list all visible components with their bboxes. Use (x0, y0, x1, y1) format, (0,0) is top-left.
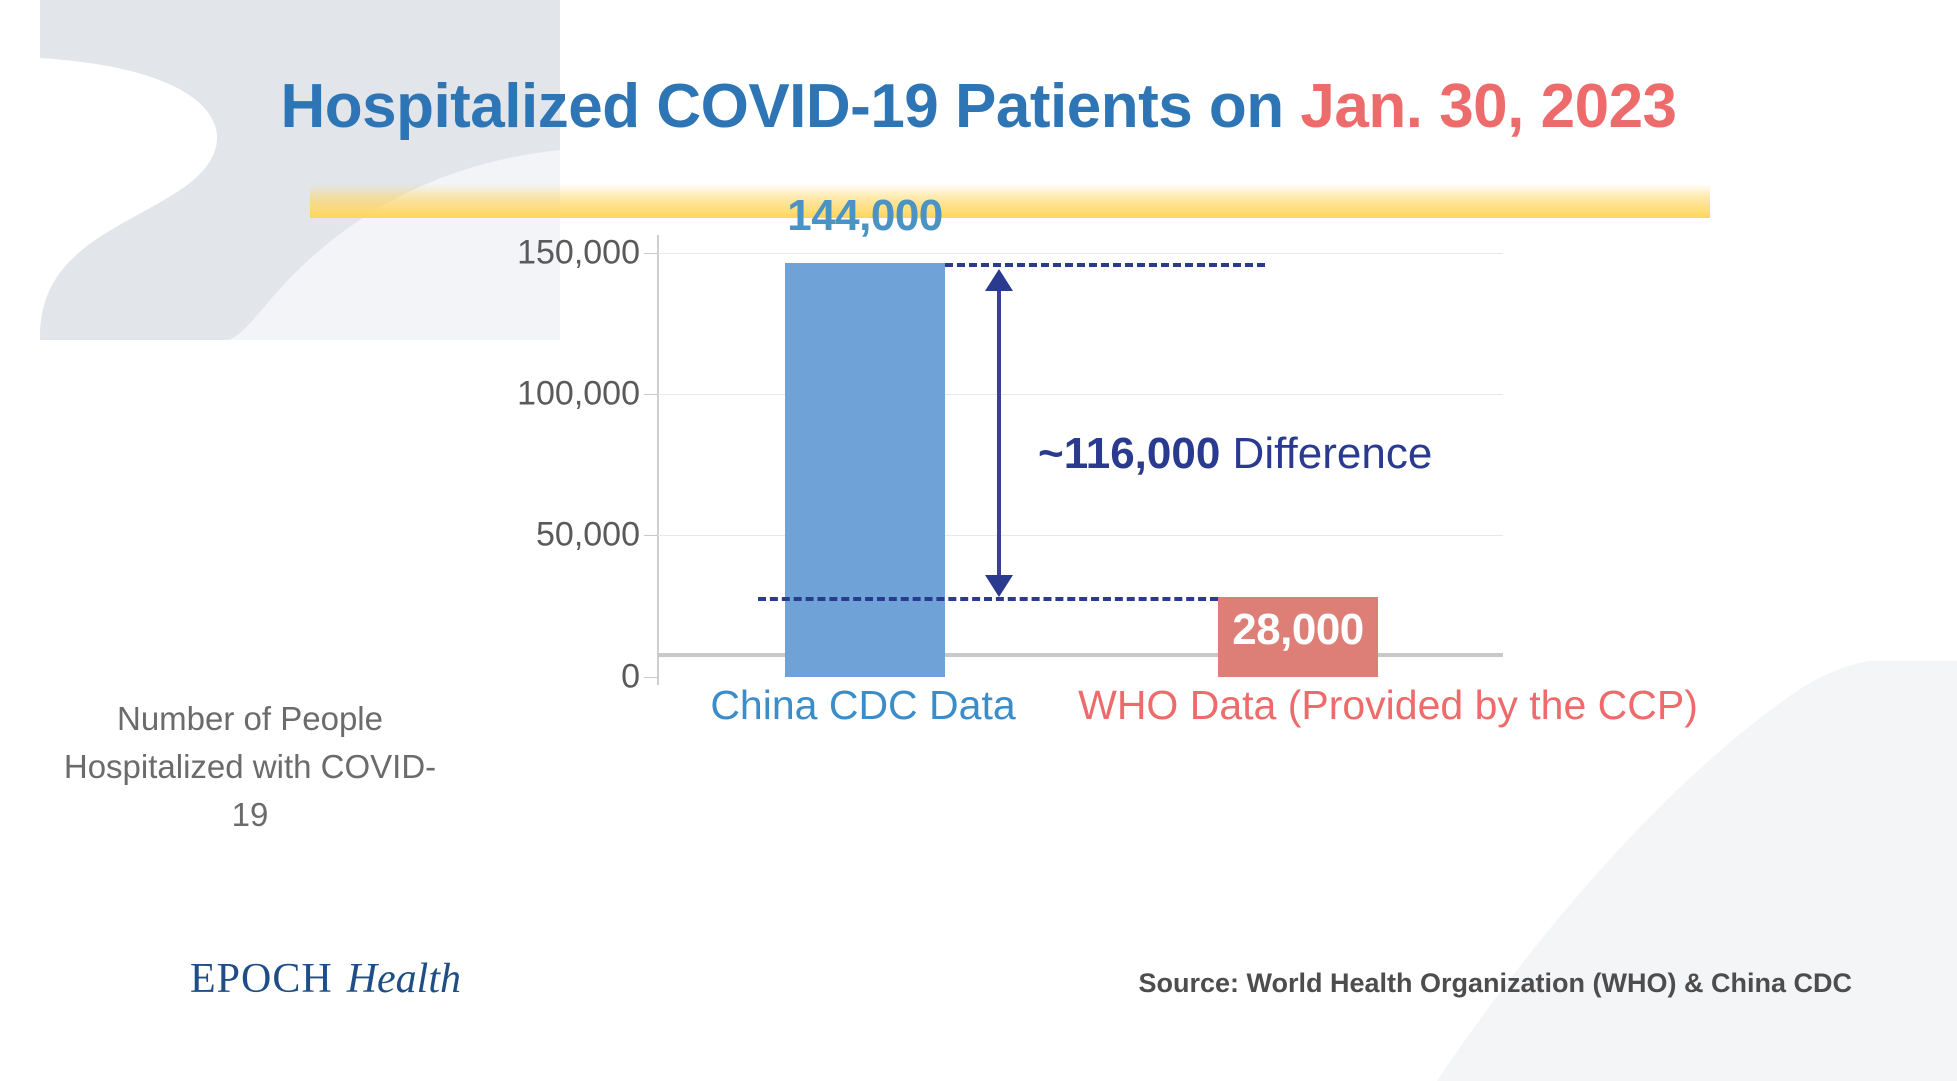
dashed-guide-top (945, 263, 1265, 267)
y-axis-title: Number of People Hospitalized with COVID… (55, 695, 445, 839)
x-axis-category-labels: China CDC Data WHO Data (Provided by the… (658, 682, 1503, 752)
bar-value-label-who: 28,000 (1218, 605, 1378, 655)
dashed-guide-bottom (758, 597, 1218, 601)
difference-arrowhead-down (985, 575, 1013, 597)
difference-value: ~116,000 (1038, 429, 1220, 478)
page-title: Hospitalized COVID-19 Patients on Jan. 3… (0, 52, 1957, 162)
bar-value-label-china-cdc: 144,000 (705, 191, 1025, 241)
x-category-label-who: WHO Data (Provided by the CCP) (1038, 682, 1738, 729)
difference-word: Difference (1220, 429, 1432, 478)
y-tick-label-0: 0 (400, 658, 640, 697)
infographic-canvas: Hospitalized COVID-19 Patients on Jan. 3… (0, 0, 1957, 1081)
difference-arrowhead-up (985, 269, 1013, 291)
title-block: Hospitalized COVID-19 Patients on Jan. 3… (0, 52, 1957, 162)
y-tick-label-150000: 150,000 (400, 234, 640, 273)
bar-china-cdc[interactable] (785, 263, 945, 677)
plot-area: 144,000 28,000 ~116,000 Difference (658, 253, 1503, 684)
difference-annotation: ~116,000 Difference (1038, 429, 1598, 479)
title-date-text: Jan. 30, 2023 (1300, 72, 1676, 141)
tick-150000 (644, 253, 658, 254)
tick-100000 (644, 394, 658, 395)
logo-secondary-text: Health (347, 956, 461, 1002)
difference-arrow-shaft (997, 281, 1001, 581)
epoch-health-logo: EPOCHHealth (190, 955, 461, 1003)
y-axis-tick-labels: 150,000 100,000 50,000 0 (390, 253, 640, 684)
y-tick-label-50000: 50,000 (400, 516, 640, 555)
bar-chart: Number of People Hospitalized with COVID… (0, 230, 1957, 930)
title-main-text: Hospitalized COVID-19 Patients on (280, 72, 1300, 141)
y-tick-label-100000: 100,000 (400, 375, 640, 414)
logo-primary-text: EPOCH (190, 956, 333, 1002)
tick-50000 (644, 535, 658, 536)
tick-0 (644, 677, 658, 678)
x-category-label-china-cdc: China CDC Data (623, 682, 1103, 729)
source-attribution: Source: World Health Organization (WHO) … (1138, 968, 1852, 999)
